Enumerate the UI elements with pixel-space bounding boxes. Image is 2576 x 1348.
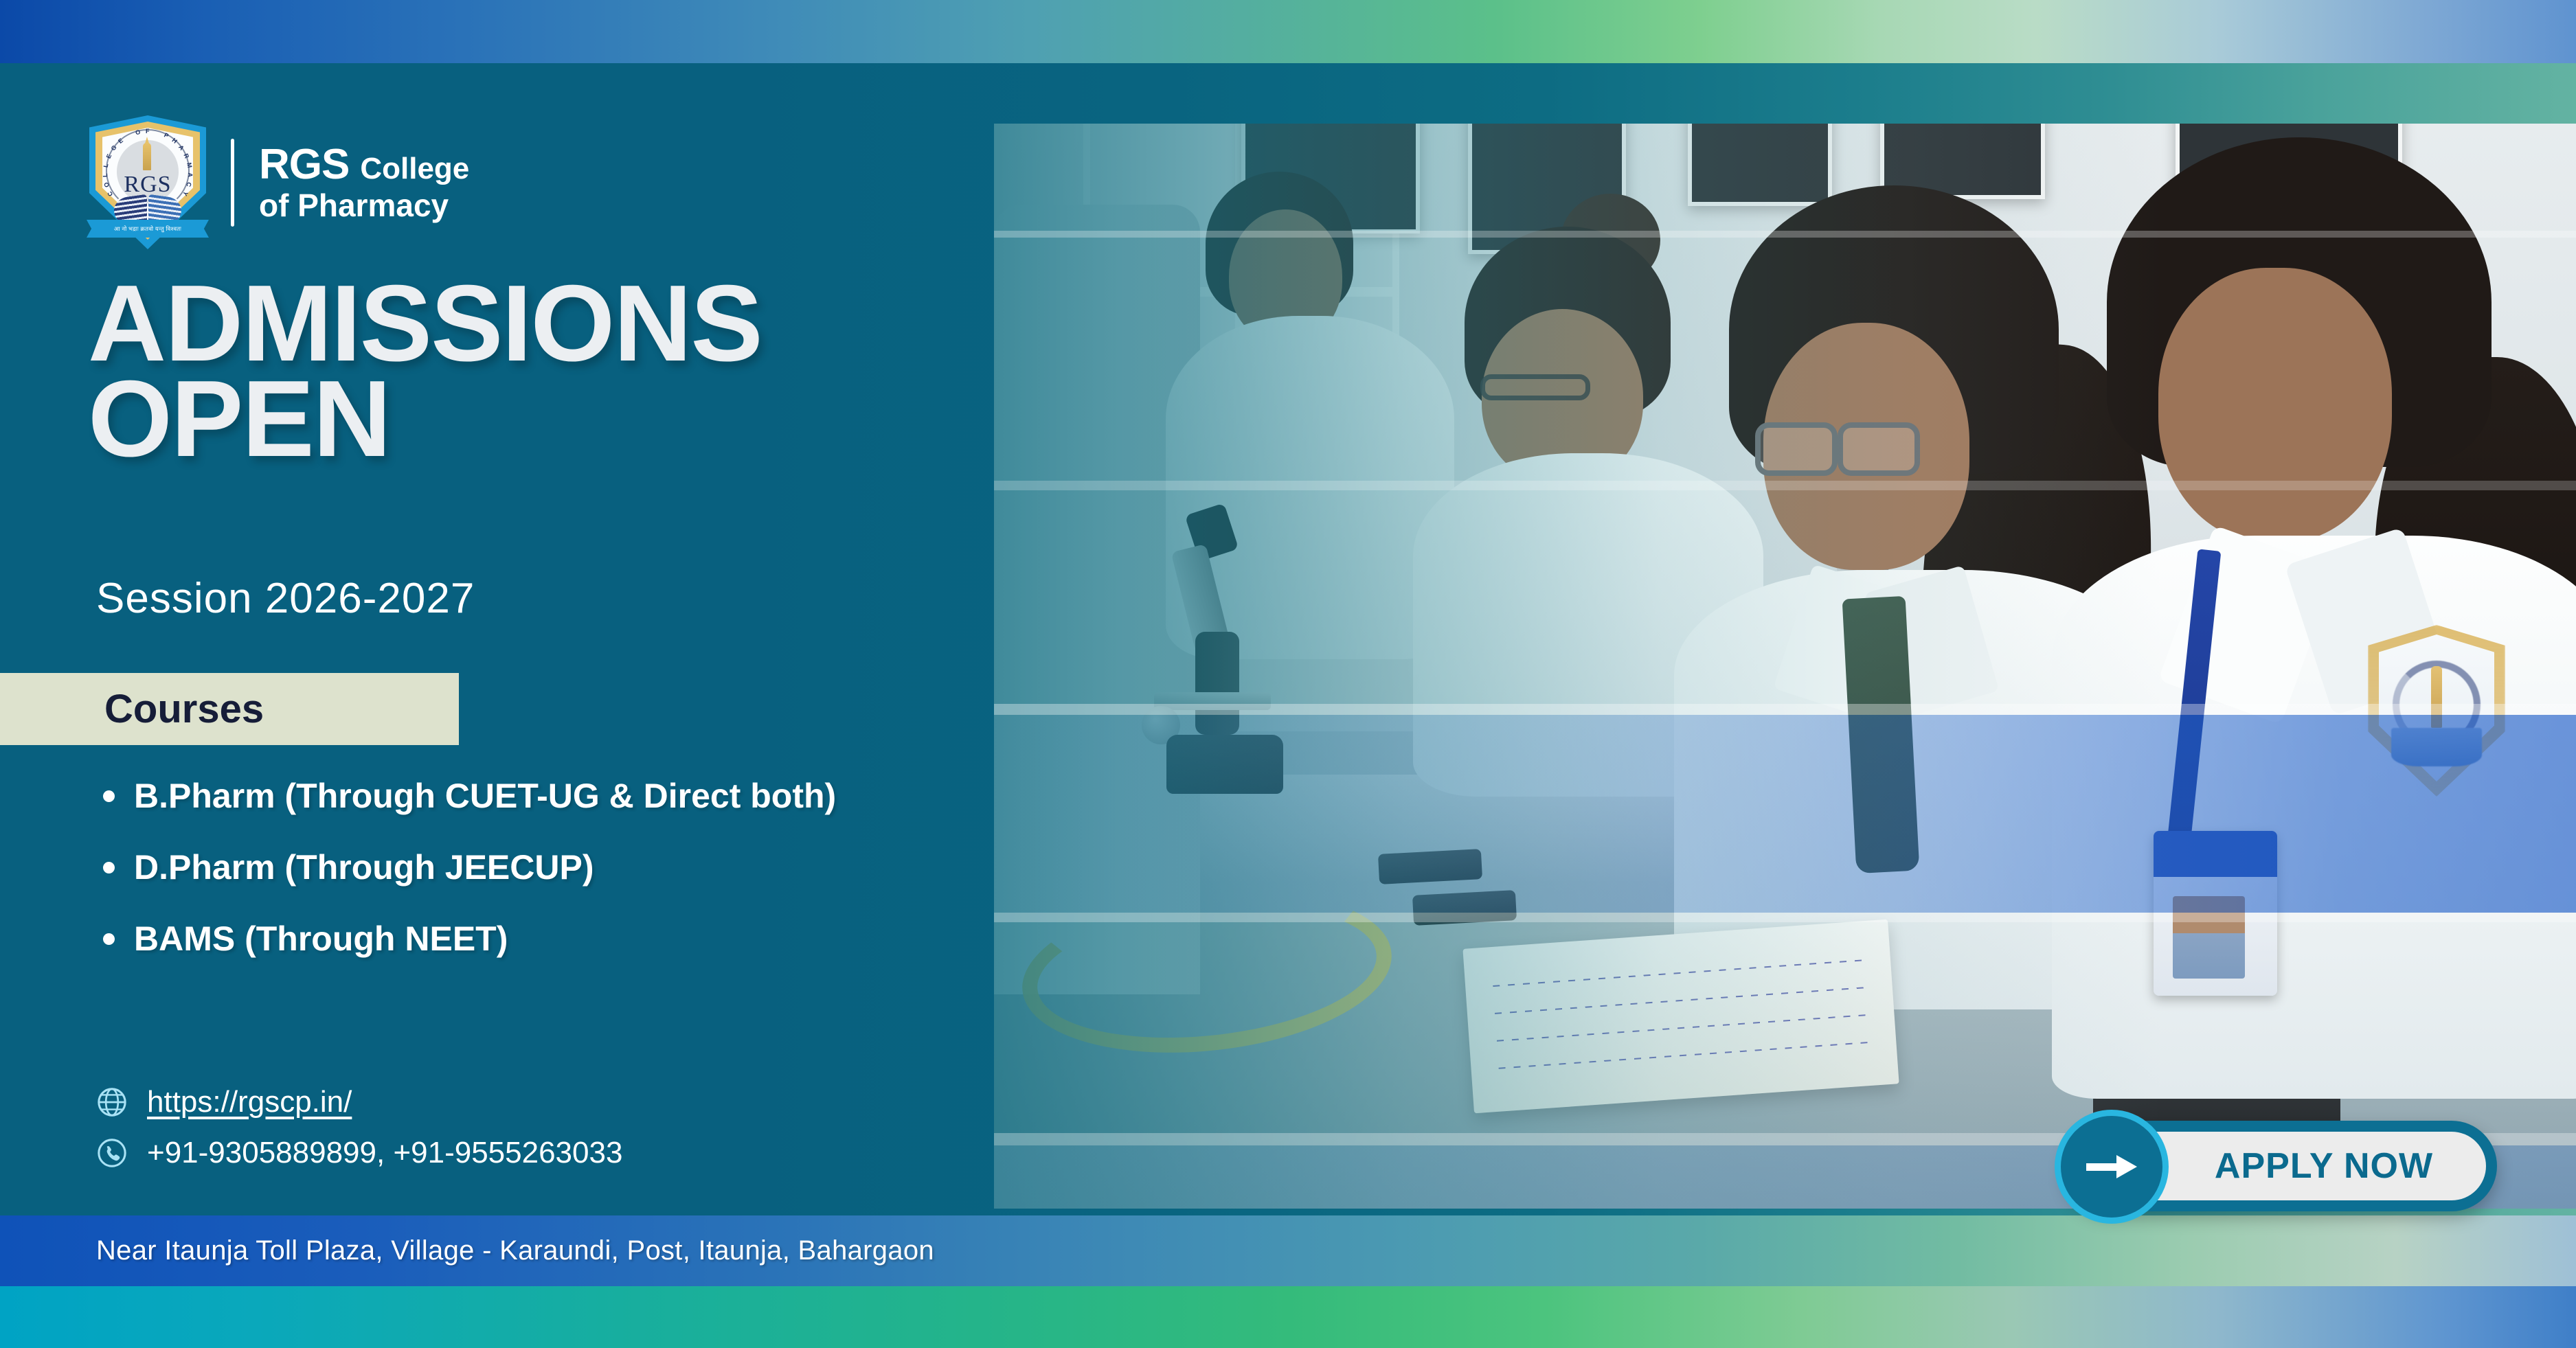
phone-row[interactable]: +91-9305889899, +91-9555263033 (96, 1136, 622, 1170)
logo-monogram: RGS (89, 172, 206, 198)
arrow-right-icon (2086, 1159, 2137, 1174)
session-label: Session 2026-2027 (96, 574, 475, 623)
brand-lockup: COLLEGE OF PHARMACY RGS आ नो भद्राः क्रत… (89, 115, 469, 249)
apply-now-button[interactable]: APPLY NOW (2064, 1121, 2497, 1211)
top-gradient-band (0, 0, 2576, 63)
logo-motto-text: आ नो भद्राः क्रतवो यन्तु विश्वतः (114, 225, 181, 233)
bullet-icon (103, 862, 115, 873)
headline-line-2: OPEN (88, 372, 762, 467)
brand-line-2: of Pharmacy (259, 190, 469, 222)
brand-name-primary: RGS (259, 143, 349, 186)
rgs-logo-icon: COLLEGE OF PHARMACY RGS आ नो भद्राः क्रत… (89, 115, 206, 249)
apply-now-circle (2055, 1110, 2169, 1224)
address-text: Near Itaunja Toll Plaza, Village - Karau… (96, 1235, 934, 1266)
lab-photo (994, 124, 2576, 1209)
bottom-gradient-band (0, 1286, 2576, 1348)
apply-now-label: APPLY NOW (2215, 1145, 2433, 1187)
list-item: BAMS (Through NEET) (103, 919, 836, 959)
course-label: D.Pharm (Through JEECUP) (134, 847, 594, 887)
courses-heading-box: Courses (0, 673, 459, 745)
page-title: ADMISSIONS OPEN (88, 276, 762, 467)
course-label: B.Pharm (Through CUET-UG & Direct both) (134, 776, 836, 816)
bullet-icon (103, 790, 115, 802)
brand-line-1: RGS College (259, 143, 469, 186)
courses-heading: Courses (104, 686, 264, 732)
bullet-icon (103, 933, 115, 945)
photo-teal-tint (994, 124, 2576, 1209)
brand-name-secondary: College (360, 154, 469, 185)
course-list: B.Pharm (Through CUET-UG & Direct both) … (103, 776, 836, 990)
admission-poster: COLLEGE OF PHARMACY RGS आ नो भद्राः क्रत… (0, 0, 2576, 1348)
pen-nib-icon (143, 143, 151, 170)
brand-text: RGS College of Pharmacy (259, 143, 469, 221)
list-item: D.Pharm (Through JEECUP) (103, 847, 836, 887)
globe-icon (96, 1086, 128, 1118)
phone-number: +91-9305889899, +91-9555263033 (147, 1136, 622, 1170)
course-label: BAMS (Through NEET) (134, 919, 508, 959)
brand-divider (231, 139, 234, 227)
phone-icon (96, 1137, 128, 1169)
contact-block: https://rgscp.in/ +91-9305889899, +91-95… (96, 1085, 622, 1187)
list-item: B.Pharm (Through CUET-UG & Direct both) (103, 776, 836, 816)
website-row[interactable]: https://rgscp.in/ (96, 1085, 622, 1119)
address-band: Near Itaunja Toll Plaza, Village - Karau… (0, 1215, 2576, 1286)
website-link[interactable]: https://rgscp.in/ (147, 1085, 352, 1119)
logo-motto-ribbon: आ नो भद्राः क्रतवो यन्तु विश्वतः (87, 220, 209, 238)
